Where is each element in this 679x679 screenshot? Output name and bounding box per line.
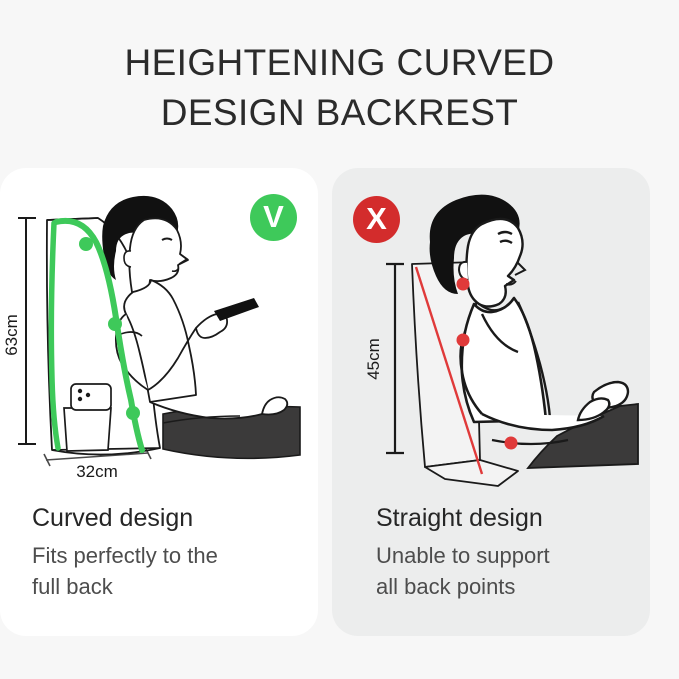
cross-mark-icon: X: [353, 196, 400, 243]
contact-point: [457, 334, 470, 347]
height-dimension-label: 63cm: [2, 314, 21, 356]
contact-point: [457, 278, 470, 291]
caption-straight: Straight design Unable to support all ba…: [376, 502, 630, 602]
contact-point: [505, 437, 518, 450]
support-point: [79, 237, 93, 251]
page-title: HEIGHTENING CURVED DESIGN BACKREST: [0, 38, 679, 138]
product-comparison-page: HEIGHTENING CURVED DESIGN BACKREST 63cm: [0, 0, 679, 679]
page-title-line-2: DESIGN BACKREST: [0, 88, 679, 138]
width-dimension-label: 32cm: [76, 462, 118, 481]
page-title-line-1: HEIGHTENING CURVED: [0, 38, 679, 88]
face-shape: [467, 219, 523, 307]
caption-title: Curved design: [32, 502, 298, 535]
phone-icon: [71, 384, 111, 410]
side-pocket-shape: [64, 408, 111, 451]
remote-control-icon: [214, 298, 259, 321]
support-point: [126, 406, 140, 420]
ear-shape: [124, 251, 131, 267]
caption-subtitle: Fits perfectly to the full back: [32, 540, 298, 602]
height-dimension-label: 45cm: [364, 338, 383, 380]
comparison-cards: 63cm 32cm: [0, 168, 679, 636]
caption-subtitle: Unable to support all back points: [376, 540, 630, 602]
card-straight-design[interactable]: 45cm: [332, 168, 650, 636]
height-dimension-line: [386, 264, 404, 453]
check-mark-icon: V: [250, 194, 297, 241]
support-point: [108, 317, 122, 331]
caption-curved: Curved design Fits perfectly to the full…: [32, 502, 298, 602]
card-curved-design[interactable]: 63cm 32cm: [0, 168, 318, 636]
check-mark-glyph: V: [263, 201, 284, 232]
caption-title: Straight design: [376, 502, 630, 535]
cross-mark-glyph: X: [366, 203, 387, 234]
